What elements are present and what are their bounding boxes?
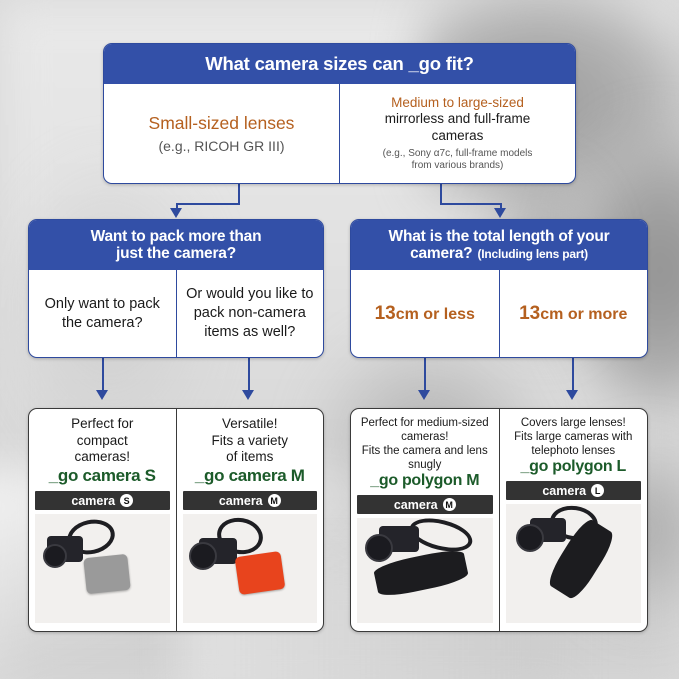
connector-card1	[102, 358, 104, 392]
product-photo-camera-s	[35, 514, 170, 623]
left-branch-options: Only want to pack the camera? Or would y…	[29, 270, 323, 357]
pouch-gray	[83, 554, 131, 594]
product-blurb-polygon-m: Perfect for medium-sized cameras! Fits t…	[361, 416, 489, 472]
option-medium-large[interactable]: Medium to large-sized mirrorless and ful…	[339, 84, 575, 183]
product-blurb-s-line2: compact	[71, 433, 133, 450]
product-tag-label-polygon-l: camera	[542, 484, 586, 498]
left-branch-header-line1: Want to pack more than	[91, 228, 262, 245]
product-size-badge-polygon-m: M	[443, 498, 456, 511]
product-tag-bar-s: camera S	[35, 491, 170, 510]
option-medium-large-accent: Medium to large-sized	[391, 95, 524, 111]
connector-card2	[248, 358, 250, 392]
connector-top-left-stem	[238, 184, 240, 205]
pouch-orange	[234, 551, 285, 595]
right-branch-option-13cm-or-more[interactable]: 13cm or more	[499, 270, 648, 357]
product-card-go-camera-m[interactable]: Versatile! Fits a variety of items _go c…	[176, 409, 324, 631]
length-value-less: 13	[375, 303, 396, 324]
product-blurb-polygon-l-line1: Covers large lenses!	[514, 416, 632, 430]
right-branch-node: What is the total length of your camera?…	[350, 219, 648, 358]
top-question-header: What camera sizes can _go fit?	[104, 44, 575, 84]
connector-card4	[572, 358, 574, 392]
left-branch-option-camera-only[interactable]: Only want to pack the camera?	[29, 270, 176, 357]
camera-lens-icon	[189, 542, 217, 570]
length-value-more: 13	[519, 303, 540, 324]
right-branch-header-line1: What is the total length of your	[389, 228, 610, 245]
product-blurb-s-line3: cameras!	[71, 449, 133, 466]
arrow-to-card-2	[242, 390, 254, 400]
product-blurb-polygon-l: Covers large lenses! Fits large cameras …	[514, 416, 632, 458]
product-blurb-m-line1: Versatile!	[211, 416, 288, 433]
product-blurb-polygon-l-line3: telephoto lenses	[514, 444, 632, 458]
product-blurb-polygon-m-line4: snugly	[361, 458, 489, 472]
top-question-options: Small-sized lenses (e.g., RICOH GR III) …	[104, 84, 575, 183]
option-medium-large-line1: mirrorless and full-frame	[385, 111, 531, 128]
camera-lens-icon	[365, 534, 393, 562]
product-blurb-m: Versatile! Fits a variety of items	[211, 416, 288, 466]
product-blurb-polygon-m-line3: Fits the camera and lens	[361, 444, 489, 458]
product-blurb-polygon-l-line2: Fits large cameras with	[514, 430, 632, 444]
left-branch-option-non-camera-items[interactable]: Or would you like to pack non-camera ite…	[176, 270, 324, 357]
left-branch-option-non-camera-items-label: Or would you like to pack non-camera ite…	[183, 285, 318, 342]
product-blurb-s-line1: Perfect for	[71, 416, 133, 433]
camera-lens-icon	[516, 524, 544, 552]
arrow-to-left-branch	[170, 208, 182, 218]
arrow-to-card-4	[566, 390, 578, 400]
option-medium-large-line2: cameras	[432, 128, 484, 145]
product-photo-polygon-m	[357, 518, 493, 623]
right-branch-header-note: (Including lens part)	[477, 248, 587, 261]
product-tag-bar-polygon-l: camera L	[506, 481, 642, 500]
right-branch-header-line2: camera?	[410, 245, 472, 262]
product-photo-camera-m	[183, 514, 318, 623]
right-branch-header: What is the total length of your camera?…	[351, 220, 647, 270]
product-card-go-polygon-m[interactable]: Perfect for medium-sized cameras! Fits t…	[351, 409, 499, 631]
product-tag-bar-m: camera M	[183, 491, 318, 510]
option-small-lenses-title: Small-sized lenses	[149, 113, 295, 135]
connector-card3	[424, 358, 426, 392]
option-small-lenses-example: (e.g., RICOH GR III)	[158, 138, 284, 154]
product-card-group-camera: Perfect for compact cameras! _go camera …	[28, 408, 324, 632]
product-card-go-polygon-l[interactable]: Covers large lenses! Fits large cameras …	[499, 409, 648, 631]
product-blurb-m-line3: of items	[211, 449, 288, 466]
product-tag-label-m: camera	[219, 494, 263, 508]
option-medium-large-example-line2: from various brands)	[412, 160, 504, 172]
right-branch-option-13cm-or-less[interactable]: 13cm or less	[351, 270, 499, 357]
product-size-badge-polygon-l: L	[591, 484, 604, 497]
product-tag-label-polygon-m: camera	[394, 498, 438, 512]
product-name-go-polygon-m: _go polygon M	[370, 472, 479, 490]
product-tag-bar-polygon-m: camera M	[357, 495, 493, 514]
option-medium-large-example-line1: (e.g., Sony α7c, full-frame models	[383, 148, 533, 160]
product-blurb-polygon-m-line2: cameras!	[361, 430, 489, 444]
arrow-to-right-branch	[494, 208, 506, 218]
product-blurb-s: Perfect for compact cameras!	[71, 416, 133, 466]
left-branch-header: Want to pack more than just the camera?	[29, 220, 323, 270]
connector-top-left-bar	[176, 203, 240, 205]
product-name-go-polygon-l: _go polygon L	[521, 458, 626, 476]
left-branch-option-camera-only-label: Only want to pack the camera?	[35, 295, 170, 333]
product-photo-polygon-l	[506, 504, 642, 623]
length-unit-less: cm or less	[396, 306, 475, 323]
product-blurb-polygon-m-line1: Perfect for medium-sized	[361, 416, 489, 430]
product-card-go-camera-s[interactable]: Perfect for compact cameras! _go camera …	[29, 409, 176, 631]
product-size-badge-m: M	[268, 494, 281, 507]
product-tag-label-s: camera	[71, 494, 115, 508]
product-size-badge-s: S	[120, 494, 133, 507]
right-branch-options: 13cm or less 13cm or more	[351, 270, 647, 357]
product-name-go-camera-s: _go camera S	[49, 466, 156, 486]
product-blurb-m-line2: Fits a variety	[211, 433, 288, 450]
arrow-to-card-1	[96, 390, 108, 400]
left-branch-header-line2: just the camera?	[91, 245, 262, 262]
option-small-lenses[interactable]: Small-sized lenses (e.g., RICOH GR III)	[104, 84, 339, 183]
arrow-to-card-3	[418, 390, 430, 400]
product-card-group-polygon: Perfect for medium-sized cameras! Fits t…	[350, 408, 648, 632]
left-branch-node: Want to pack more than just the camera? …	[28, 219, 324, 358]
top-question-node: What camera sizes can _go fit? Small-siz…	[103, 43, 576, 184]
connector-top-right-bar	[440, 203, 502, 205]
product-name-go-camera-m: _go camera M	[195, 466, 305, 486]
length-unit-more: cm or more	[540, 306, 627, 323]
camera-lens-icon	[43, 544, 67, 568]
right-branch-option-13cm-or-more-label: 13cm or more	[519, 303, 627, 325]
connector-top-right-stem	[440, 184, 442, 205]
right-branch-option-13cm-or-less-label: 13cm or less	[375, 303, 475, 325]
